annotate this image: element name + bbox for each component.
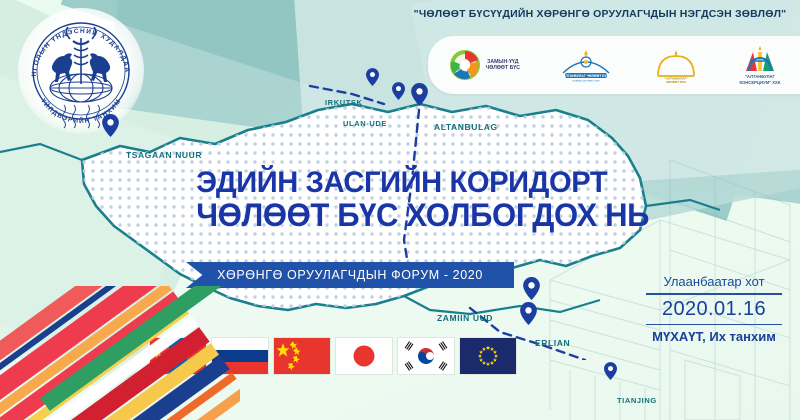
poster-root: МОНГОЛЫН ҮНДЭСНИЙ ХУДАЛДАА АЖ ҮЙЛДВЭРИЙН…: [0, 0, 800, 420]
sponsor-consortium-line2: КОНСЕРЦИУМ" ХХК: [739, 80, 780, 85]
location-pin-icon: [520, 302, 537, 325]
flag-south-korea: [398, 338, 454, 374]
altanbulag-dome-icon: "АЛТАНБУЛАГ" ЧӨЛӨӨТ БҮС: [652, 46, 700, 84]
location-pin-icon: [411, 83, 428, 106]
map-label-ulan-ude: ULAN-UDE: [343, 119, 387, 128]
sponsor-consortium-line1: "АЛТАНБУЛАГ: [739, 74, 780, 79]
map-marker-irkutsk[interactable]: [366, 68, 379, 91]
flag-japan: [336, 338, 392, 374]
map-marker-ulan-ude[interactable]: [392, 82, 405, 105]
zamyn-uud-icon: [448, 48, 482, 82]
map-label-tsagaan-nuur: TSAGAAN NUUR: [126, 150, 202, 160]
mncci-logo-mark: МОНГОЛЫН ҮНДЭСНИЙ ХУДАЛДАА АЖ ҮЙЛДВЭРИЙН…: [18, 8, 144, 134]
map-marker-tsagaan-nuur[interactable]: [102, 114, 119, 142]
map-label-altanbulag: ALTANBULAG: [434, 122, 498, 132]
info-divider-top: [646, 293, 782, 295]
location-pin-icon: [102, 114, 119, 137]
sponsor-altanbulag-free-zone: АЛТАНБУЛАГ ЧӨЛӨӨТ БҮС ALTANBULAG FREE ZO…: [559, 47, 613, 83]
corner-stripe-decoration: [0, 286, 240, 420]
map-label-zamiin-uud: ZAMIIN UUD: [437, 313, 493, 323]
location-pin-icon: [366, 68, 379, 86]
event-city: Улаанбаатар хот: [636, 274, 792, 291]
map-marker-zamiin-uud[interactable]: [523, 277, 540, 305]
event-date: 2020.01.16: [636, 297, 792, 322]
altanbulag-free-zone-icon: АЛТАНБУЛАГ ЧӨЛӨӨТ БҮС ALTANBULAG FREE ZO…: [559, 47, 613, 83]
svg-text:ЧӨЛӨӨТ БҮС: ЧӨЛӨӨТ БҮС: [666, 80, 687, 84]
map-label-tianjing: TIANJING: [617, 396, 657, 405]
flag-china: [274, 338, 330, 374]
location-pin-icon: [604, 362, 617, 380]
sponsor-zamyn-uud-line2: ЧӨЛӨӨТ БҮС: [486, 65, 520, 72]
china-border: [404, 296, 600, 314]
map-label-irkutsk: IRKUTSK: [325, 98, 363, 107]
top-banner-title: "ЧӨЛӨӨТ БҮСҮҮДИЙН ХӨРӨНГӨ ОРУУЛАГЧДЫН НЭ…: [400, 8, 800, 20]
map-label-erlian: ERLIAN: [535, 338, 570, 348]
svg-text:ALTANBULAG FREE ZONE: ALTANBULAG FREE ZONE: [572, 80, 600, 83]
sponsor-logo-bar: ЗАМЫН-ҮҮД ЧӨЛӨӨТ БҮС АЛТАНБУЛАГ ЧӨЛӨӨТ Б…: [428, 36, 800, 94]
forum-ribbon-label: ХӨРӨНГӨ ОРУУЛАГЧДЫН ФОРУМ - 2020: [217, 268, 483, 282]
flag-european-union: [460, 338, 516, 374]
sponsor-altanbulag-consortium: "АЛТАНБУЛАГ КОНСЕРЦИУМ" ХХК: [739, 45, 780, 85]
map-marker-erlian[interactable]: [520, 302, 537, 330]
event-venue: МҮХАҮТ, Их танхим: [636, 327, 792, 344]
info-divider-bottom: [646, 324, 782, 326]
map-marker-altanbulag[interactable]: [411, 83, 428, 111]
sponsor-altanbulag-dome: "АЛТАНБУЛАГ" ЧӨЛӨӨТ БҮС: [652, 46, 700, 84]
location-pin-icon: [392, 82, 405, 100]
sponsor-zamyn-uud-free-zone: ЗАМЫН-ҮҮД ЧӨЛӨӨТ БҮС: [448, 48, 520, 82]
consortium-icon: [743, 45, 777, 73]
mncci-logo: МОНГОЛЫН ҮНДЭСНИЙ ХУДАЛДАА АЖ ҮЙЛДВЭРИЙН…: [18, 8, 144, 134]
map-marker-tianjing[interactable]: [604, 362, 617, 385]
event-info-box: Улаанбаатар хот 2020.01.16 МҮХАҮТ, Их та…: [636, 274, 792, 344]
forum-ribbon: ХӨРӨНГӨ ОРУУЛАГЧДЫН ФОРУМ - 2020: [186, 262, 514, 288]
svg-text:АЛТАНБУЛАГ ЧӨЛӨӨТ БҮС: АЛТАНБУЛАГ ЧӨЛӨӨТ БҮС: [563, 74, 610, 78]
location-pin-icon: [523, 277, 540, 300]
